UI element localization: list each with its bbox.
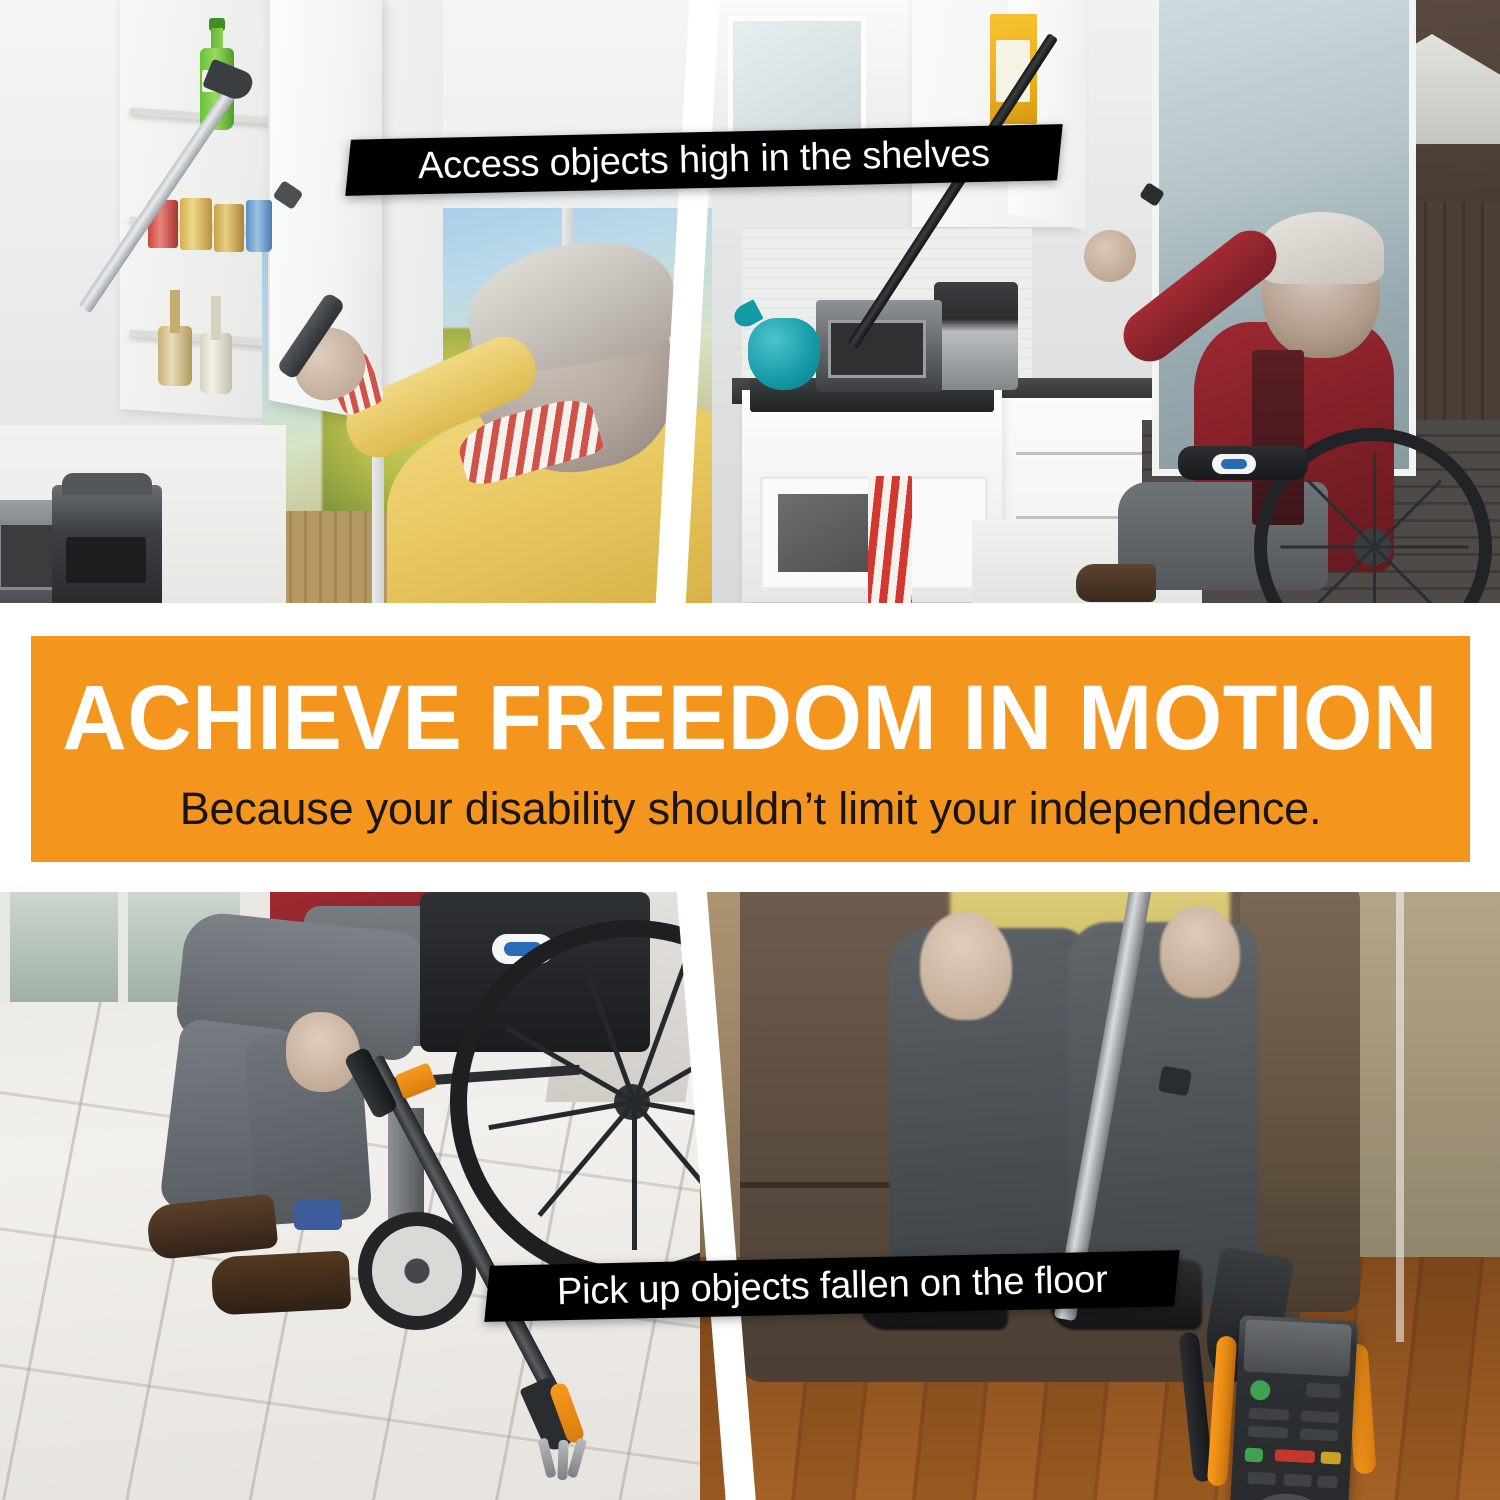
- glass-bottle: [158, 290, 192, 386]
- caption-bottom-text: Pick up objects fallen on the floor: [556, 1258, 1108, 1313]
- resting-hand: [920, 912, 1012, 1020]
- brown-shoe: [211, 1250, 352, 1315]
- photo-row-top: [0, 0, 1500, 603]
- hand: [1084, 230, 1136, 282]
- grabber-orange-trigger: [394, 1062, 437, 1100]
- pressure-cooker: [52, 485, 162, 603]
- panel-wheelchair-kitchen: [712, 0, 1500, 603]
- brown-shoe: [146, 1193, 279, 1260]
- product-infographic: Access objects high in the shelves ACHIE…: [0, 0, 1500, 1500]
- canned-food: [180, 198, 212, 250]
- headline-banner: ACHIEVE FREEDOM IN MOTION Because your d…: [31, 636, 1470, 862]
- hand-gripping-tool: [1160, 906, 1240, 998]
- person-yellow-sweater: [317, 215, 712, 603]
- glass-bottle: [200, 296, 232, 394]
- packaged-food: [246, 200, 272, 252]
- grabber-joint: [1158, 1066, 1192, 1097]
- panel-cabinet-reach: [0, 0, 712, 603]
- panel-pickup-remote: [700, 892, 1500, 1500]
- brown-shoe: [1076, 564, 1156, 602]
- hand-gripping-tool: [286, 1012, 360, 1092]
- tv-remote-control: [1228, 1315, 1358, 1500]
- person-red-sweater: [1142, 182, 1472, 603]
- striped-kitchen-towel: [868, 476, 912, 603]
- grey-hair: [1260, 212, 1384, 284]
- headline-subtitle: Because your disability shouldn’t limit …: [180, 786, 1322, 831]
- caption-top-text: Access objects high in the shelves: [418, 132, 991, 187]
- headline-title: ACHIEVE FREEDOM IN MOTION: [63, 672, 1439, 764]
- wall-trim: [1396, 892, 1404, 1342]
- canned-food: [214, 204, 244, 252]
- wheelchair-brand-badge: [1212, 454, 1256, 474]
- white-stove: [742, 390, 1002, 602]
- pressure-cooker: [934, 282, 1018, 390]
- keys-on-floor: [538, 1438, 592, 1484]
- photo-row-bottom: [0, 892, 1500, 1500]
- panel-pickup-keys: [0, 892, 700, 1500]
- teal-kettle: [748, 318, 820, 390]
- person-in-wheelchair: [120, 892, 540, 1402]
- blue-sock: [294, 1200, 342, 1230]
